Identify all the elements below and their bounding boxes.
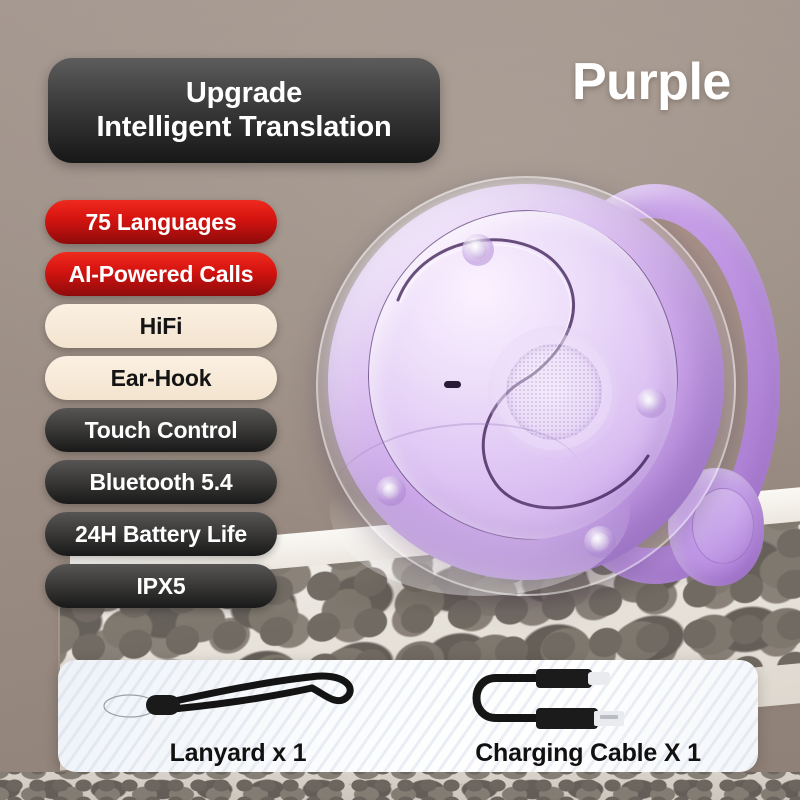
product-card: Upgrade Intelligent Translation Purple 7…	[0, 0, 800, 800]
led-indicator	[444, 381, 461, 388]
feature-badge-ipx5: IPX5	[45, 564, 277, 608]
headline-line-1: Upgrade	[186, 77, 302, 111]
color-variant-title: Purple	[572, 52, 731, 112]
charging-cable-icon	[418, 664, 758, 730]
highlight-dot	[462, 234, 494, 266]
accessories-panel: Lanyard x 1 Charging Cable X 1	[58, 660, 758, 772]
watermark-text: · · · · · · · · · · · ·	[0, 776, 800, 791]
feature-badge-ai-powered-calls: AI-Powered Calls	[45, 252, 277, 296]
feature-badge-bluetooth: Bluetooth 5.4	[45, 460, 277, 504]
accessory-item-lanyard: Lanyard x 1	[58, 660, 418, 772]
feature-badge-list: 75 Languages AI-Powered Calls HiFi Ear-H…	[45, 200, 277, 616]
feature-badge-battery-life: 24H Battery Life	[45, 512, 277, 556]
lanyard-icon	[58, 664, 418, 730]
highlight-dot	[636, 388, 666, 418]
feature-badge-touch-control: Touch Control	[45, 408, 277, 452]
accessory-label-charging-cable: Charging Cable X 1	[418, 739, 758, 768]
accessory-item-charging-cable: Charging Cable X 1	[418, 660, 758, 772]
headline-line-2: Intelligent Translation	[96, 111, 391, 145]
shell-base-sheen	[330, 426, 630, 596]
feature-badge-75-languages: 75 Languages	[45, 200, 277, 244]
feature-badge-hifi: HiFi	[45, 304, 277, 348]
feature-badge-ear-hook: Ear-Hook	[45, 356, 277, 400]
headline-banner: Upgrade Intelligent Translation	[48, 58, 440, 163]
product-image	[316, 176, 782, 606]
highlight-dot	[376, 476, 406, 506]
highlight-dot	[584, 526, 616, 558]
accessory-label-lanyard: Lanyard x 1	[58, 739, 418, 768]
